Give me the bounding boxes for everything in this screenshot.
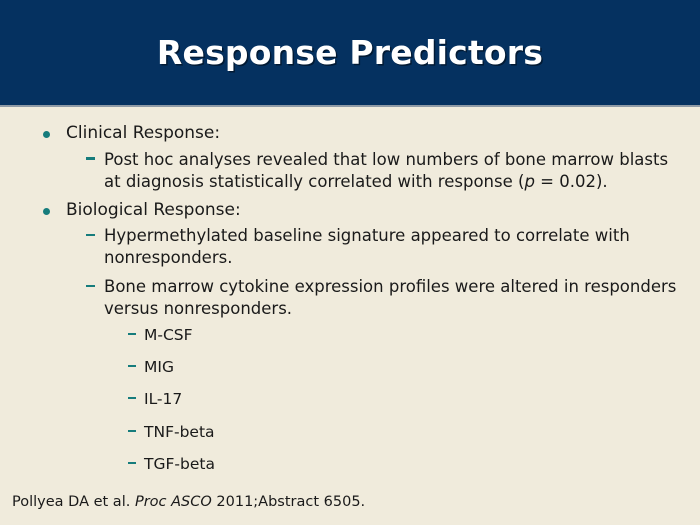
bullet-dash-icon (128, 333, 136, 335)
sub-list-biological: Hypermethylated baseline signature appea… (66, 225, 686, 473)
sub-item-post-hoc: Post hoc analyses revealed that low numb… (86, 149, 686, 193)
bullet-dash-icon (128, 430, 136, 432)
cytokine-label: IL-17 (144, 390, 182, 408)
slide-body: Clinical Response: Post hoc analyses rev… (0, 107, 700, 525)
bullet-dash-icon (128, 365, 136, 367)
outline-item-biological-response: Biological Response: Hypermethylated bas… (14, 200, 686, 474)
bullet-dash-icon (86, 285, 95, 287)
bullet-dash-icon (86, 157, 95, 159)
cytokine-list: M-CSF MIG IL-17 (104, 325, 686, 474)
bullet-dash-icon (128, 462, 136, 464)
sub-list-clinical: Post hoc analyses revealed that low numb… (66, 149, 686, 193)
outline-list: Clinical Response: Post hoc analyses rev… (14, 123, 686, 474)
outline-heading: Biological Response: (66, 200, 241, 220)
citation-footer: Pollyea DA et al. Proc ASCO 2011;Abstrac… (0, 494, 700, 525)
citation-text-after: 2011;Abstract 6505. (212, 494, 365, 510)
sub-item-text-italic: p (524, 172, 534, 191)
list-item: TGF-beta (128, 454, 686, 474)
page-title: Response Predictors (137, 36, 563, 69)
cytokine-label: TNF-beta (144, 423, 215, 441)
slide: Response Predictors Clinical Response: P… (0, 0, 700, 525)
sub-item-text: Bone marrow cytokine expression profiles… (104, 277, 676, 318)
bullet-dash-icon (128, 397, 136, 399)
cytokine-label: TGF-beta (144, 455, 215, 473)
cytokine-label: MIG (144, 358, 174, 376)
outline-item-clinical-response: Clinical Response: Post hoc analyses rev… (14, 123, 686, 193)
list-item: M-CSF (128, 325, 686, 345)
bullet-dot-icon (43, 131, 50, 138)
list-item: TNF-beta (128, 422, 686, 442)
cytokine-label: M-CSF (144, 326, 193, 344)
list-item: MIG (128, 357, 686, 377)
sub-item-hypermethylated: Hypermethylated baseline signature appea… (86, 225, 686, 269)
sub-item-text-after: = 0.02). (535, 172, 608, 191)
slide-header: Response Predictors (0, 0, 700, 107)
bullet-dash-icon (86, 234, 95, 236)
list-item: IL-17 (128, 389, 686, 409)
bullet-dot-icon (43, 208, 50, 215)
citation-text-before: Pollyea DA et al. (12, 494, 135, 510)
sub-item-text: Hypermethylated baseline signature appea… (104, 226, 630, 267)
sub-item-cytokine-profiles: Bone marrow cytokine expression profiles… (86, 276, 686, 474)
outline-heading: Clinical Response: (66, 123, 220, 143)
citation-journal: Proc ASCO (135, 494, 212, 510)
